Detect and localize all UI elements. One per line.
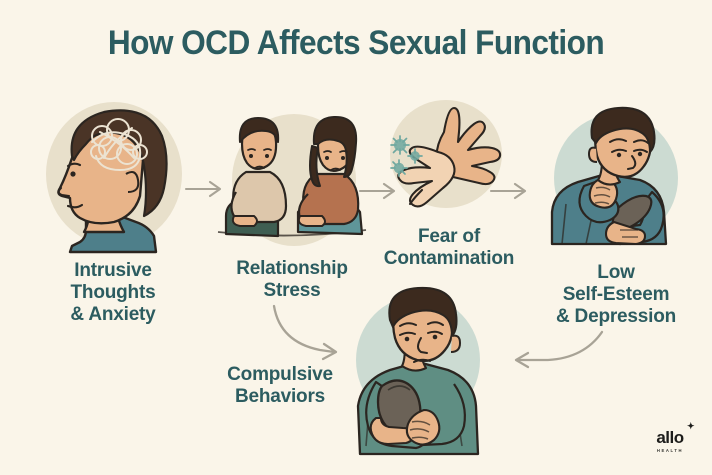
step-label-fear-of-contamination: Fear of Contamination bbox=[356, 226, 542, 270]
infographic-root: How OCD Affects Sexual Function bbox=[0, 0, 712, 475]
distant-couple-icon bbox=[212, 100, 372, 252]
step-intrusive-thoughts: Intrusive Thoughts & Anxiety bbox=[28, 96, 198, 256]
step-fear-of-contamination: Fear of Contamination bbox=[378, 98, 518, 228]
logo-wordmark: allo ✦ bbox=[642, 429, 698, 446]
logo-word-text: allo bbox=[656, 428, 683, 447]
arrow-right-icon-3 bbox=[489, 180, 535, 202]
step-label-compulsive-behaviors: Compulsive Behaviors bbox=[206, 364, 354, 408]
step-relationship-stress: Relationship Stress bbox=[212, 100, 372, 252]
washing-hands-germs-icon bbox=[378, 98, 518, 228]
step-label-intrusive-thoughts: Intrusive Thoughts & Anxiety bbox=[20, 260, 206, 326]
head-with-tangled-thoughts-icon bbox=[28, 96, 198, 256]
page-title: How OCD Affects Sexual Function bbox=[25, 24, 687, 63]
man-scrolling-phone-icon bbox=[336, 278, 500, 456]
step-label-low-self-esteem: Low Self-Esteem & Depression bbox=[518, 262, 712, 328]
step-compulsive-behaviors: Compulsive Behaviors bbox=[336, 278, 500, 456]
arrow-curved-left-icon bbox=[496, 326, 608, 374]
allo-health-logo: allo ✦ HEALTH bbox=[642, 429, 698, 463]
logo-subtext: HEALTH bbox=[642, 448, 698, 453]
step-low-self-esteem: Low Self-Esteem & Depression bbox=[536, 104, 692, 256]
sparkle-icon: ✦ bbox=[687, 422, 694, 431]
sad-man-with-phone-icon bbox=[536, 104, 692, 256]
